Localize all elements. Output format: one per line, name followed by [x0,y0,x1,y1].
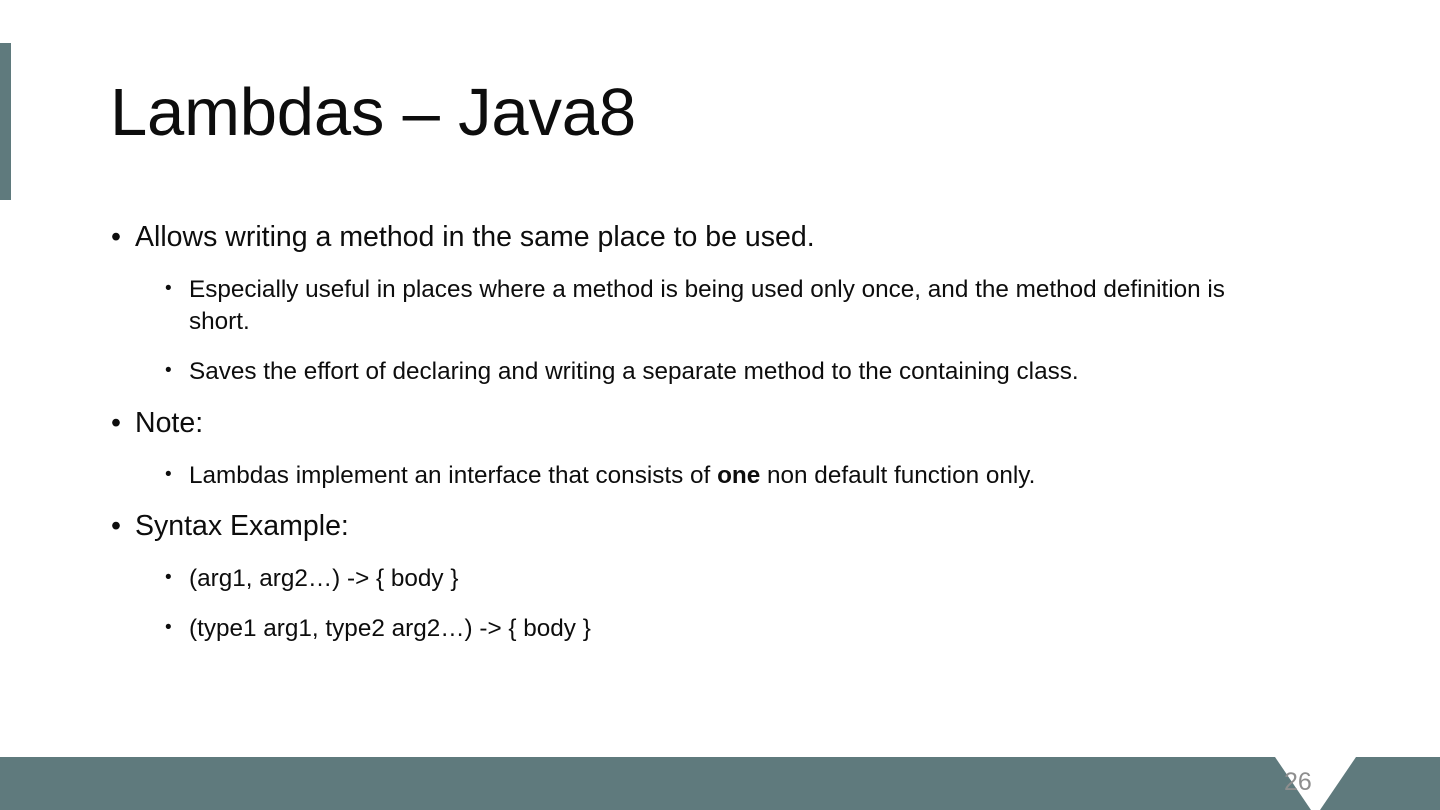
bullet-text-segment: non default function only. [760,462,1035,489]
bullet-dot-icon: • [104,508,135,545]
bullet-dot-icon: • [104,405,135,442]
bullet-text: Note: [135,405,1354,442]
bullet-text: Especially useful in places where a meth… [189,274,1289,338]
bullet-text: Allows writing a method in the same plac… [135,219,1354,256]
bullet-item-level1: • Syntax Example: [104,508,1354,545]
footer-decoration-bar [0,757,1440,810]
bullet-item-level2: • (arg1, arg2…) -> { body } [157,563,1354,595]
bullet-dot-icon: • [157,613,189,644]
bullet-text: (arg1, arg2…) -> { body } [189,563,1289,595]
spacer [104,492,1354,508]
slide-body: • Allows writing a method in the same pl… [104,219,1354,646]
bullet-dot-icon: • [157,356,189,387]
spacer [104,546,1354,563]
bullet-text: Syntax Example: [135,508,1354,545]
bullet-item-level2: • Lambdas implement an interface that co… [157,460,1354,492]
bullet-text-segment: Lambdas implement an interface that cons… [189,462,717,489]
spacer [104,443,1354,460]
bullet-text: (type1 arg1, type2 arg2…) -> { body } [189,613,1289,645]
spacer [104,389,1354,405]
page-number: 26 [1284,770,1344,795]
spacer [104,596,1354,613]
bullet-text-emphasis: one [717,462,760,489]
footer-bar-shape [0,757,1440,810]
bullet-item-level1: • Note: [104,405,1354,442]
bullet-item-level2: • Saves the effort of declaring and writ… [157,356,1354,388]
bullet-item-level1: • Allows writing a method in the same pl… [104,219,1354,256]
bullet-item-level2: • Especially useful in places where a me… [157,274,1354,338]
bullet-dot-icon: • [157,460,189,491]
bullet-dot-icon: • [104,219,135,256]
slide-title: Lambdas – Java8 [110,78,1350,148]
bullet-item-level2: • (type1 arg1, type2 arg2…) -> { body } [157,613,1354,645]
bullet-text: Lambdas implement an interface that cons… [189,460,1289,492]
title-accent-bar [0,43,11,200]
bullet-text: Saves the effort of declaring and writin… [189,356,1289,388]
spacer [104,339,1354,356]
spacer [104,257,1354,274]
slide-canvas: Lambdas – Java8 • Allows writing a metho… [0,0,1440,810]
bullet-dot-icon: • [157,274,189,305]
bullet-dot-icon: • [157,563,189,594]
